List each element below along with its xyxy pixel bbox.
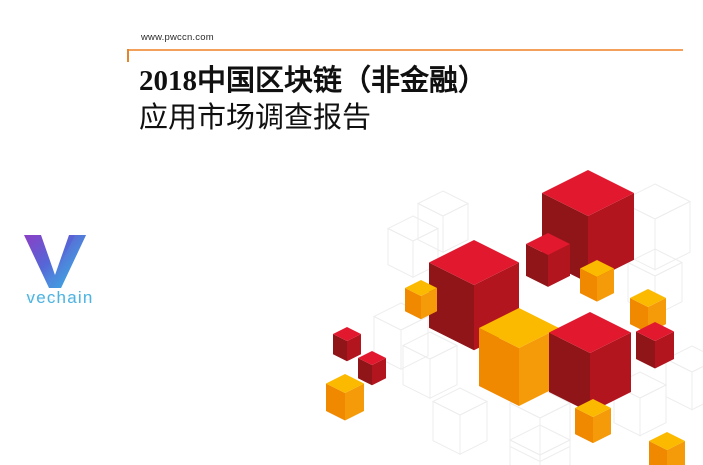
vechain-logo: vechain vechain [8,232,112,316]
wire-cube-mid-b-right [430,346,457,399]
wire-cube-top-b-left [388,229,413,278]
cube-red-small-right-edge [636,322,674,369]
cube-orange-tiny-left [326,374,364,421]
wire-cube-top-right-right [655,202,690,270]
wire-cube-low-a-right [460,402,487,455]
cube-orange-large-center [479,308,559,406]
wire-cube-low-c-left [510,440,540,465]
page-title-line-2: 应用市场调查报告 [139,100,609,137]
cube-orange-bottom-edge [649,432,685,465]
wire-cube-low-c-right [540,440,570,465]
cube-red-tiny-left-b [358,351,386,385]
wire-cube-low-a [433,388,487,454]
wire-cube-mid-b-left [403,346,430,399]
wire-cube-mid-b [403,332,457,398]
header-website-url: www.pwccn.com [141,32,214,43]
cube-orange-small-left [405,280,437,319]
cube-orange-tiny-upper [580,260,614,302]
cube-orange-bottom-center [575,399,611,443]
wire-cube-low-a-left [433,402,460,455]
slide-root: www.pwccn.com 2018中国区块链（非金融） 应用市场调查报告 [0,0,703,465]
isometric-cube-artwork [295,158,703,465]
cube-red-tiny-left-a [333,327,361,361]
wire-cube-right-far-left [666,359,692,410]
wire-cube-top-a-left [418,204,443,253]
header-divider-rule [127,49,683,51]
wire-cube-right-low-right [640,385,666,436]
wire-cube-right-far-right [692,359,703,410]
header-divider-stub [127,49,129,62]
vechain-v-icon [22,232,88,290]
cube-red-large-lower-right [549,312,631,412]
cube-red-small-upper [526,233,570,287]
vechain-wordmark-reflection: vechain [8,292,112,303]
wire-cube-top-a [418,191,468,252]
wire-cube-mid-a-right [401,317,428,370]
page-title: 2018中国区块链（非金融） 应用市场调查报告 [139,63,609,137]
wire-cube-top-b-top [388,216,438,241]
wire-cube-top-a-top [418,191,468,216]
cube-cluster-svg [295,158,703,465]
page-title-line-1: 2018中国区块链（非金融） [139,63,609,100]
